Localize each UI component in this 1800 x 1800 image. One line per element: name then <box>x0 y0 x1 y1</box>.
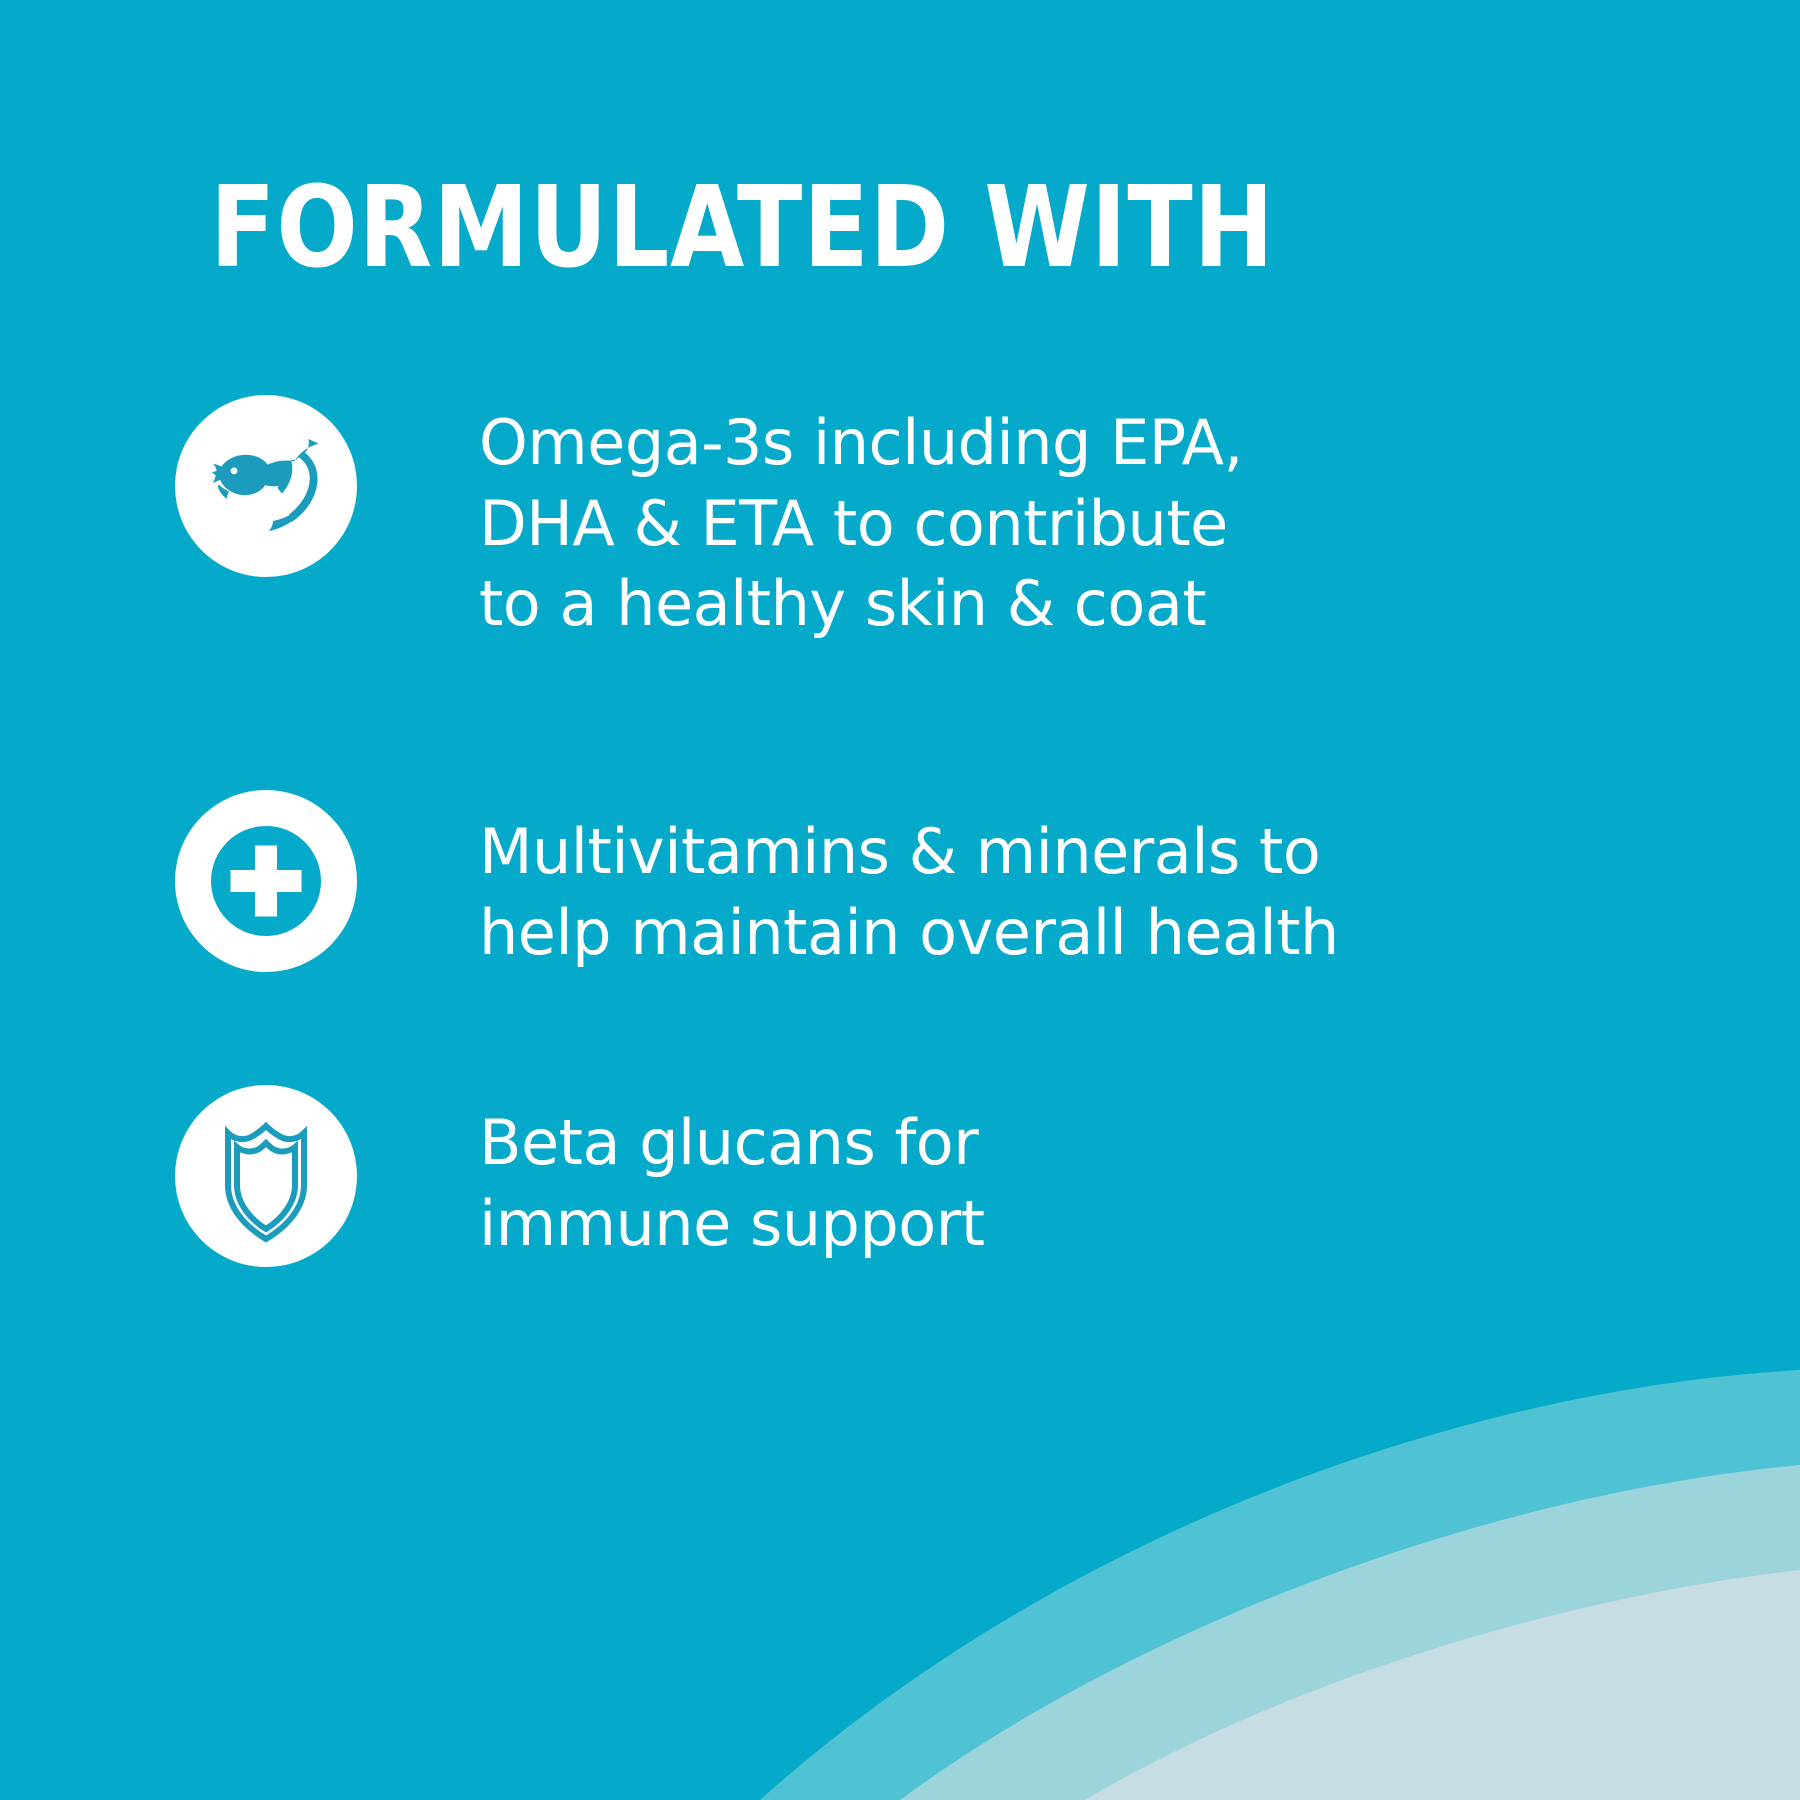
feature-row: Beta glucans for immune support <box>175 1085 985 1267</box>
feature-text: Omega-3s including EPA, DHA & ETA to con… <box>479 403 1243 645</box>
feature-row: Multivitamins & minerals to help maintai… <box>175 790 1339 973</box>
fish-icon-graphic <box>175 395 357 577</box>
shield-icon <box>175 1085 357 1267</box>
feature-text: Beta glucans for immune support <box>479 1103 985 1264</box>
feature-text: Multivitamins & minerals to help maintai… <box>479 812 1339 973</box>
page-title: FORMULATED WITH <box>210 172 1275 284</box>
bottom-wave-decoration <box>0 1280 1800 1800</box>
wave-layer-light <box>1085 1570 1800 1800</box>
formulated-with-poster: FORMULATED WITH Omega-3s including EPA, … <box>0 0 1800 1800</box>
feature-row: Omega-3s including EPA, DHA & ETA to con… <box>175 395 1243 645</box>
shield-icon-graphic <box>175 1085 357 1267</box>
fish-icon <box>175 395 357 577</box>
wave-layer-dark <box>760 1370 1800 1800</box>
wave-layer-mid <box>900 1465 1800 1800</box>
medical-cross-icon-graphic <box>175 790 357 972</box>
medical-cross-icon <box>175 790 357 972</box>
